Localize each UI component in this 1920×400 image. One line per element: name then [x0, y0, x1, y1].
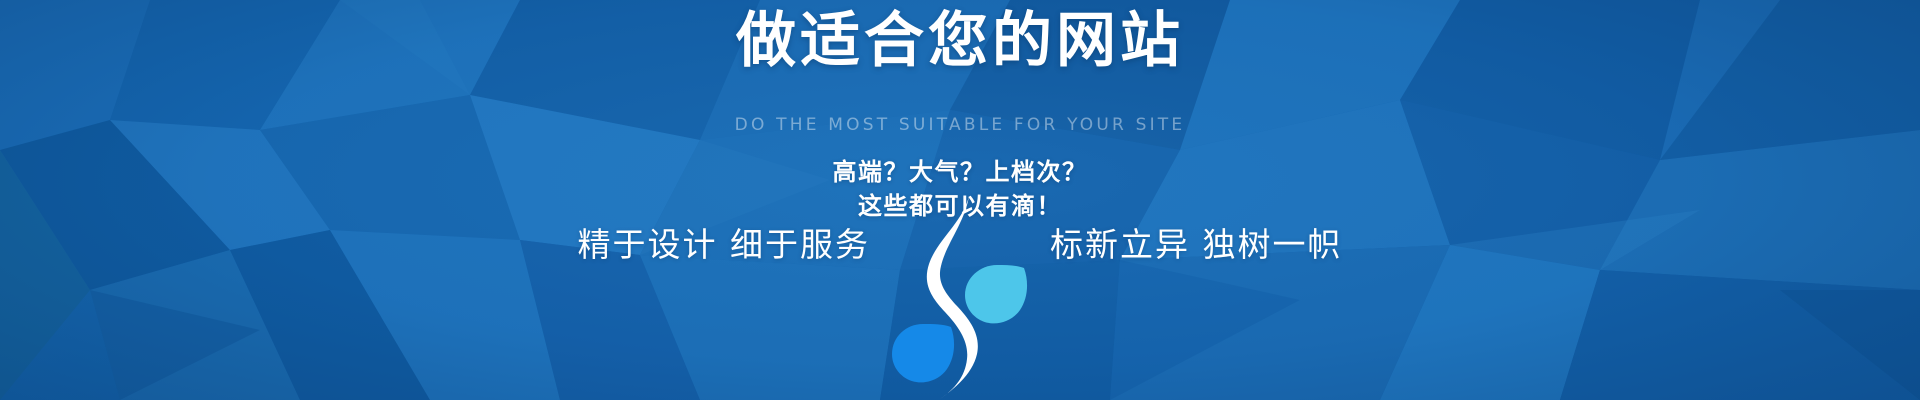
banner-headline: 做适合您的网站 [736, 8, 1184, 75]
banner-subtext-line-2: 这些都可以有滴！ [833, 189, 1088, 223]
tagline-right: 标新立异 独树一帜 [1050, 228, 1410, 261]
banner-subtext-block: 高端？大气？上档次？ 这些都可以有滴！ [833, 155, 1088, 223]
tagline-row: 精于设计 细于服务 标新立异 独树一帜 [0, 228, 1920, 261]
banner-content: 做适合您的网站 DO THE MOST SUITABLE FOR YOUR SI… [0, 0, 1920, 400]
tagline-left: 精于设计 细于服务 [510, 228, 870, 261]
banner-subheadline-english: DO THE MOST SUITABLE FOR YOUR SITE [735, 116, 1186, 135]
hero-banner: 做适合您的网站 DO THE MOST SUITABLE FOR YOUR SI… [0, 0, 1920, 400]
banner-subtext-line-1: 高端？大气？上档次？ [833, 155, 1088, 189]
